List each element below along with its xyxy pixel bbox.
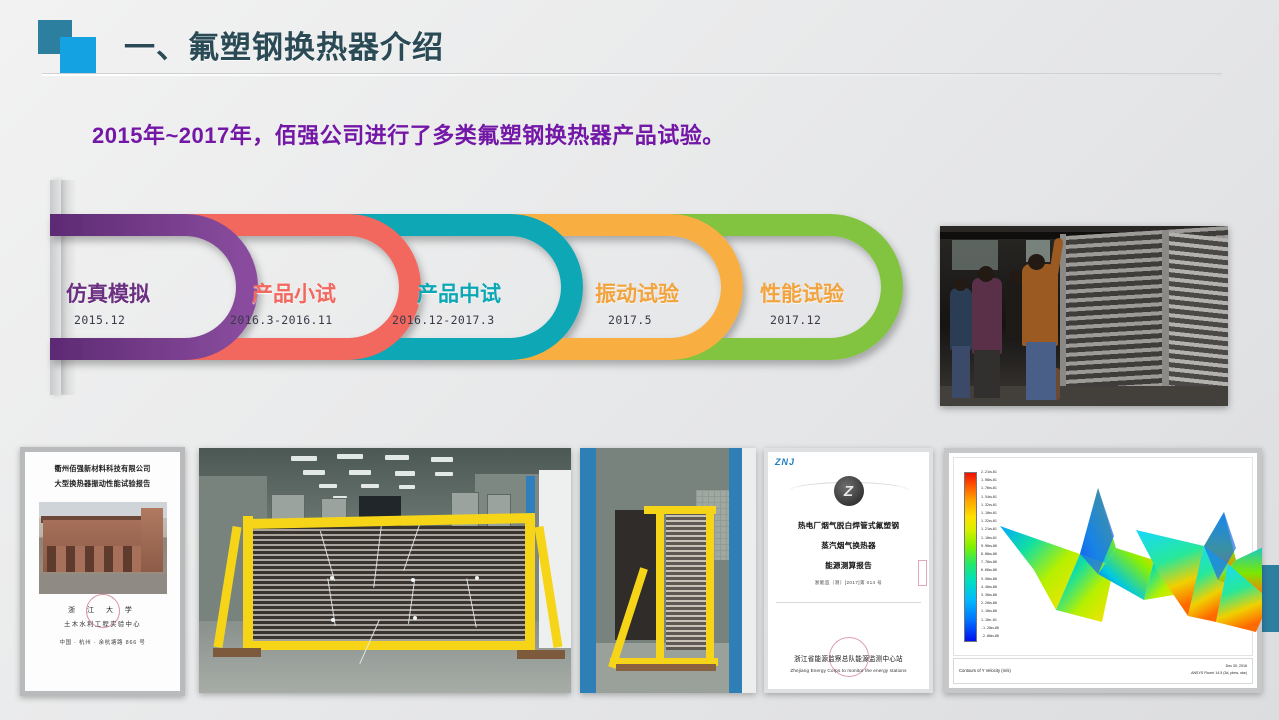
t3-door-panel — [742, 448, 756, 693]
t3-post-left — [656, 506, 664, 662]
photo-module-test-rig — [580, 448, 756, 693]
cfd-caption-bar: Contours of Y Velocity (m/s) Dec 30, 201… — [953, 658, 1253, 684]
doc-vibration-line2: 大型换热器振动性能试验报告 — [34, 479, 171, 489]
stage-date-5: 2017.12 — [770, 313, 821, 327]
sensor-node-2 — [411, 578, 415, 582]
cfd-caption-date: Dec 30, 2016 — [1191, 663, 1247, 670]
photo-window — [952, 240, 998, 270]
photo-person-4-head — [1028, 254, 1045, 270]
rig-post-left — [243, 516, 253, 648]
photo-heat-exchanger-site — [940, 226, 1228, 406]
timeline-left-bar — [50, 180, 61, 395]
cfd-colorbar — [964, 472, 977, 642]
stage-label-3: 产品中试 — [417, 278, 501, 308]
sensor-node-3 — [475, 576, 479, 580]
doc-energy-report: ZNJ Z 热电厂烟气脱白焊管式氟塑钢 蒸汽烟气换热器 能源测算报告 浙能监（测… — [764, 448, 933, 693]
cfd-caption-title: Contours of Y Velocity (m/s) — [959, 668, 1011, 673]
cover-arcade — [47, 546, 151, 572]
doc-energy-line2: 蒸汽烟气换热器 — [776, 540, 921, 551]
doc-energy-edge-seal — [918, 560, 927, 586]
doc-vibration-page: 衢州佰强新材料科技有限公司 大型换热器振动性能试验报告 浙 江 大 学 土木水利… — [25, 452, 180, 691]
photo-frame-post-1 — [1060, 234, 1066, 404]
sensor-node-4 — [413, 616, 417, 620]
photo-person-2-legs — [974, 350, 1000, 398]
photo-person-4-legs — [1026, 342, 1056, 400]
doc-energy-page: ZNJ Z 热电厂烟气脱白焊管式氟塑钢 蒸汽烟气换热器 能源测算报告 浙能监（测… — [768, 452, 929, 689]
cfd-plot-area: 2.21e+011.98e+011.76e+011.54e+011.32e+01… — [953, 457, 1253, 656]
stage-date-3: 2016.12-2017.3 — [392, 313, 495, 327]
photo-person-1-head — [954, 278, 967, 291]
process-timeline: 仿真模拟 2015.12 产品小试 2016.3-2016.11 产品中试 20… — [30, 205, 930, 385]
t3-exchanger-body — [615, 510, 657, 640]
stage-label-2: 产品小试 — [252, 278, 336, 308]
photo-frame-post-2 — [1162, 230, 1169, 406]
rig-beam-bottom — [245, 641, 535, 650]
stage-label-5: 性能试验 — [760, 278, 844, 308]
cfd-tick-label: 2.21e+01 — [981, 468, 1015, 476]
stage-date-1: 2015.12 — [74, 313, 125, 327]
rig-foot-left — [213, 648, 261, 657]
doc-energy-footer-cn: 浙江省能源监察总队能源监测中心站 — [768, 653, 929, 663]
heat-exchanger-core — [251, 526, 526, 644]
doc-vibration-line1: 衢州佰强新材料科技有限公司 — [34, 464, 171, 474]
cfd-window: 2.21e+011.98e+011.76e+011.54e+011.32e+01… — [949, 453, 1257, 688]
doc-energy-footer-en: Zhejiang Energy Corps to monitor the ene… — [768, 668, 929, 673]
cfd-caption-meta: Dec 30, 2016 ANSYS Fluent 14.5 (3d, pbns… — [1191, 663, 1247, 677]
doc-energy-emblem: Z — [834, 476, 864, 506]
photo-person-4 — [1022, 264, 1058, 346]
cfd-caption-solver: ANSYS Fluent 14.5 (3d, pbns, ske) — [1191, 670, 1247, 677]
subtitle-text: 2015年~2017年，佰强公司进行了多类氟塑钢换热器产品试验。 — [92, 118, 725, 150]
cfd-surface-right — [1132, 496, 1262, 646]
photo-person-1 — [950, 288, 972, 350]
doc-energy-number: 浙能监（测）[2017]第 014 号 — [776, 580, 921, 586]
decor-square-light — [60, 37, 96, 73]
photo-person-1-legs — [952, 346, 970, 398]
stage-date-2: 2016.3-2016.11 — [230, 313, 333, 327]
t3-base-plate — [616, 664, 716, 671]
doc-energy-line3: 能源测算报告 — [776, 560, 921, 571]
doc-energy-brand: ZNJ — [775, 457, 795, 467]
sensor-node-5 — [331, 618, 335, 622]
cfd-velocity-contour: 2.21e+011.98e+011.76e+011.54e+011.32e+01… — [944, 448, 1262, 693]
stage-label-1: 仿真模拟 — [66, 278, 150, 308]
doc-vibration-cover-photo — [39, 502, 167, 594]
cover-tower — [141, 508, 163, 572]
t3-post-right — [706, 506, 714, 662]
cover-road — [39, 574, 167, 594]
page-title: 一、氟塑钢换热器介绍 — [124, 22, 444, 67]
t3-door-frame-left — [580, 448, 596, 693]
t3-door-frame-right — [729, 448, 742, 693]
sensor-node-1 — [330, 576, 334, 580]
doc-vibration-org: 浙 江 大 学 — [34, 605, 171, 615]
doc-energy-line1: 热电厂烟气脱白焊管式氟塑钢 — [776, 520, 921, 531]
photo-person-2-head — [978, 266, 994, 282]
doc-vibration-report: 衢州佰强新材料科技有限公司 大型换热器振动性能试验报告 浙 江 大 学 土木水利… — [20, 447, 185, 696]
photo-vibration-test-rig — [199, 448, 571, 693]
photo-person-2 — [972, 278, 1002, 354]
doc-vibration-address: 中国 · 杭州 · 余杭塘路 866 号 — [34, 638, 171, 646]
slide-header: 一、氟塑钢换热器介绍 — [0, 0, 1279, 92]
photo-exchanger-fins-right — [1168, 232, 1228, 406]
stage-date-4: 2017.5 — [608, 313, 652, 327]
doc-energy-divider — [776, 602, 921, 603]
stage-label-4: 振动试验 — [595, 278, 679, 308]
rig-foot-right — [517, 650, 565, 659]
header-divider — [42, 73, 1222, 76]
rig-post-right — [525, 514, 535, 650]
